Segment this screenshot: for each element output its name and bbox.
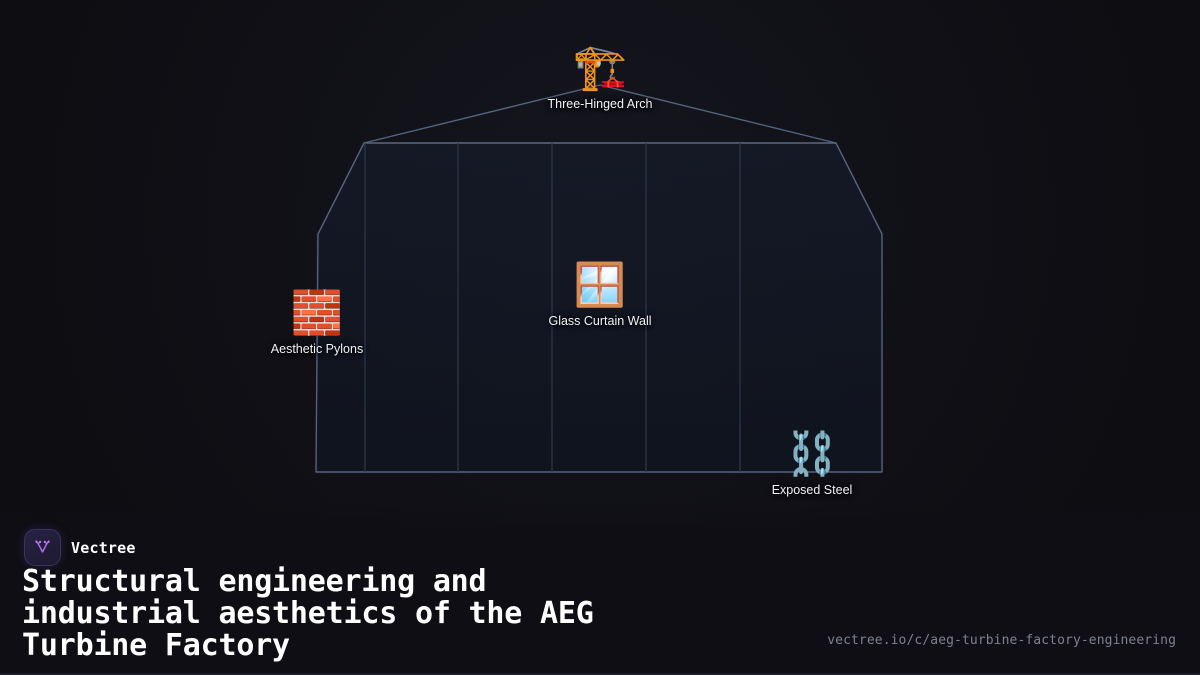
- brick-wall-icon: 🧱: [291, 289, 343, 337]
- annotation-label: Exposed Steel: [772, 483, 853, 498]
- factory-diagram: 🏗️ Three-Hinged Arch 🪟 Glass Curtain Wal…: [0, 0, 1200, 510]
- vectree-v-tree-icon: [24, 529, 61, 566]
- construction-crane-icon: 🏗️: [573, 44, 628, 92]
- annotation-label: Glass Curtain Wall: [548, 314, 651, 329]
- annotation-node-exposed-steel[interactable]: ⛓️ Exposed Steel: [712, 430, 912, 498]
- chains-icon: ⛓️: [786, 430, 838, 478]
- card-url: vectree.io/c/aeg-turbine-factory-enginee…: [827, 633, 1176, 648]
- annotation-node-glass-curtain-wall[interactable]: 🪟 Glass Curtain Wall: [500, 261, 700, 329]
- annotation-label: Aesthetic Pylons: [271, 342, 363, 357]
- brand-wordmark: Vectree: [71, 539, 136, 557]
- card-footer: Vectree Structural engineering and indus…: [0, 500, 1200, 675]
- annotation-label: Three-Hinged Arch: [548, 97, 653, 112]
- annotation-node-aesthetic-pylons[interactable]: 🧱 Aesthetic Pylons: [217, 289, 417, 357]
- card-headline: Structural engineering and industrial ae…: [22, 566, 762, 662]
- annotation-node-three-hinged-arch[interactable]: 🏗️ Three-Hinged Arch: [500, 44, 700, 112]
- brand-lockup[interactable]: Vectree: [24, 529, 136, 566]
- preview-card: 🏗️ Three-Hinged Arch 🪟 Glass Curtain Wal…: [0, 0, 1200, 675]
- window-icon: 🪟: [574, 261, 626, 309]
